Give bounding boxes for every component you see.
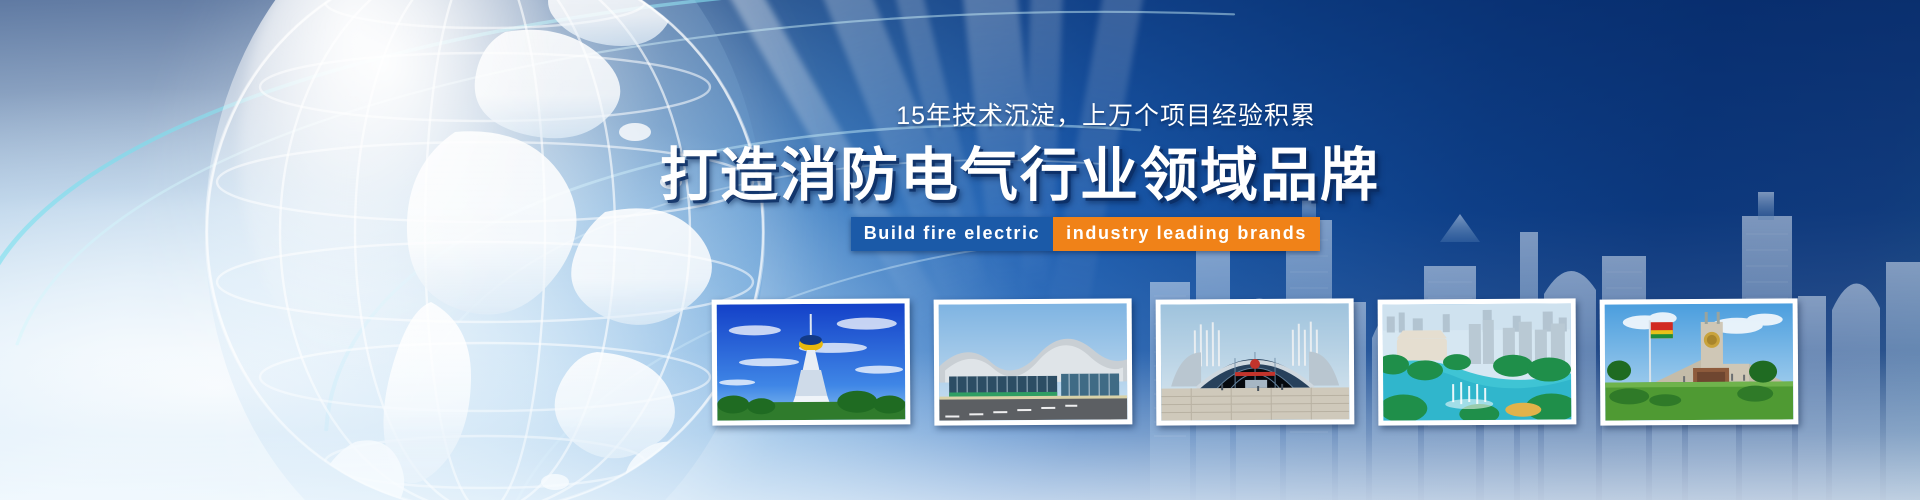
thumbnail-civic-building[interactable] (1600, 298, 1799, 425)
banner-tagline: Build fire electric industry leading bra… (851, 217, 1320, 251)
banner-subtitle: 15年技术沉淀，上万个项目经验积累 (660, 96, 1320, 132)
hero-banner: 15年技术沉淀，上万个项目经验积累 打造消防电气行业领域品牌 Build fir… (0, 0, 1920, 500)
thumbnail-tv-tower[interactable] (712, 298, 911, 425)
project-thumbnail-strip (712, 299, 1798, 425)
thumbnail-residential-lake[interactable] (1378, 298, 1577, 425)
thumbnail-airport-terminal[interactable] (934, 298, 1133, 425)
banner-headline: 打造消防电气行业领域品牌 (660, 146, 1320, 205)
banner-copy: 15年技术沉淀，上万个项目经验积累 打造消防电气行业领域品牌 Build fir… (660, 96, 1320, 251)
thumbnail-exhibition-center[interactable] (1156, 298, 1355, 425)
tagline-accent: industry leading brands (1053, 217, 1320, 251)
tagline-primary: Build fire electric (851, 217, 1053, 251)
